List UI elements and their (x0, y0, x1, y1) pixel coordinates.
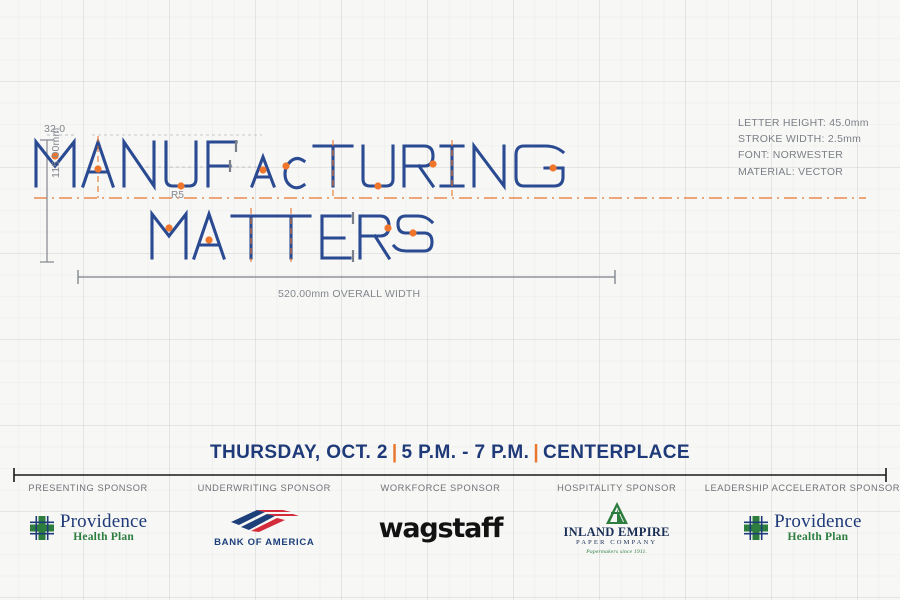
dimension-label-height: 115.00mm (50, 128, 62, 178)
blueprint-sheet: LETTER HEIGHT: 45.0mm STROKE WIDTH: 2.5m… (0, 0, 900, 600)
sponsor-tier-underwriting: UNDERWRITING SPONSOR BANK O (176, 483, 352, 554)
wagstaff-wordmark: wagstaff (379, 513, 503, 544)
sponsor-tier-label: PRESENTING SPONSOR (0, 483, 176, 493)
headline-line2-outlines (152, 214, 432, 258)
spec-block: LETTER HEIGHT: 45.0mm STROKE WIDTH: 2.5m… (738, 115, 869, 180)
sponsor-tier-presenting: PRESENTING SPONSOR Providence (0, 483, 176, 554)
event-separator-2: | (529, 442, 543, 463)
dimension-label-width: 520.00mm OVERALL WIDTH (278, 288, 420, 300)
event-time: 5 P.M. - 7 P.M. (402, 442, 530, 463)
providence-health-plan-logo[interactable]: Providence Health Plan (705, 502, 900, 554)
inland-empire-tree-icon (602, 501, 632, 525)
spec-stroke-width: STROKE WIDTH: 2.5mm (738, 131, 869, 147)
inland-empire-subtitle: PAPER COMPANY (576, 540, 657, 547)
event-venue: CENTERPLACE (543, 442, 690, 463)
sponsor-tier-workforce: WORKFORCE SPONSOR wagstaff (352, 483, 528, 554)
providence-health-plan-logo[interactable]: Providence Health Plan (0, 502, 176, 554)
sponsor-tier-hospitality: HOSPITALITY SPONSOR INLAND EMPIRE PAPER … (529, 483, 705, 554)
providence-subtitle: Health Plan (60, 532, 147, 544)
wagstaff-logo[interactable]: wagstaff (352, 502, 528, 554)
providence-wordmark: Providence (774, 512, 861, 531)
event-separator-1: | (388, 442, 402, 463)
sponsor-tier-label: HOSPITALITY SPONSOR (529, 483, 705, 493)
spec-font: FONT: NORWESTER (738, 147, 869, 163)
providence-cross-icon (743, 515, 769, 541)
sponsor-tier-leadership-accelerator: LEADERSHIP ACCELERATOR SPONSOR Provid (705, 483, 900, 554)
inland-empire-wordmark: INLAND EMPIRE (563, 526, 669, 539)
headline-line1-construction (98, 136, 452, 198)
headline-line1-outlines (36, 142, 563, 188)
sponsor-tier-label: WORKFORCE SPONSOR (352, 483, 528, 493)
event-details: THURSDAY, OCT. 2|5 P.M. - 7 P.M.|CENTERP… (0, 442, 900, 464)
sponsor-divider-rule (14, 468, 886, 482)
providence-subtitle: Health Plan (774, 532, 861, 544)
event-date: THURSDAY, OCT. 2 (210, 442, 388, 463)
sponsor-tier-label: LEADERSHIP ACCELERATOR SPONSOR (705, 483, 900, 493)
bank-of-america-flagscape-icon (227, 508, 301, 534)
sponsor-tier-label: UNDERWRITING SPONSOR (176, 483, 352, 493)
providence-cross-icon (29, 515, 55, 541)
inland-empire-tagline: Papermakers since 1911. (586, 550, 647, 556)
spec-letter-height: LETTER HEIGHT: 45.0mm (738, 115, 869, 131)
bank-of-america-wordmark: BANK OF AMERICA (214, 537, 314, 548)
dimension-label-radius: R5 (171, 190, 184, 201)
providence-wordmark: Providence (60, 512, 147, 531)
spec-material: MATERIAL: VECTOR (738, 164, 869, 180)
bank-of-america-logo[interactable]: BANK OF AMERICA (176, 502, 352, 554)
inland-empire-paper-company-logo[interactable]: INLAND EMPIRE PAPER COMPANY Papermakers … (529, 502, 705, 554)
sponsor-band: PRESENTING SPONSOR Providence (0, 483, 900, 554)
dimension-overall-width (78, 270, 615, 284)
sponsor-tier-list: PRESENTING SPONSOR Providence (0, 483, 900, 554)
